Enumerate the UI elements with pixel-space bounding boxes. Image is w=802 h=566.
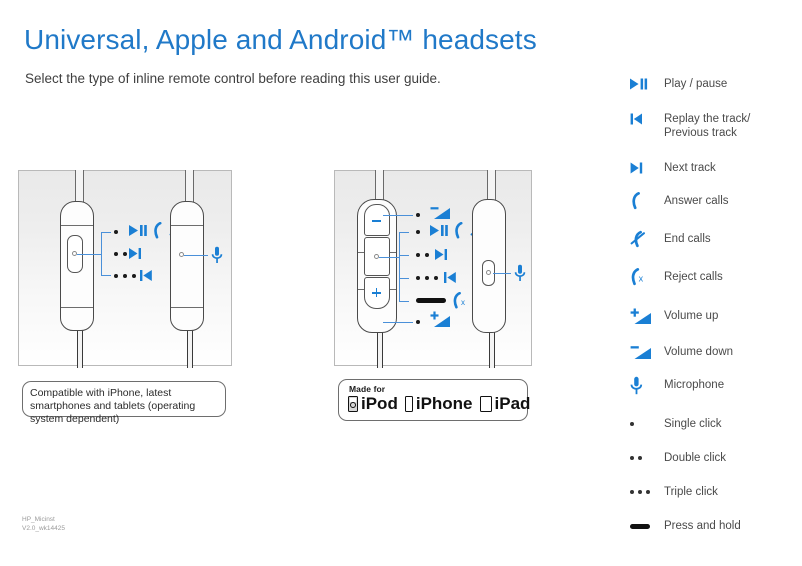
answer-calls-icon [152,222,163,243]
made-for-label: Made for [349,384,385,394]
cable-lower-left [377,330,383,368]
legend-item-volume-up: Volume up [630,308,795,324]
volume-down-icon [430,206,451,224]
user-guide-page: Universal, Apple and Android™ headsets S… [0,0,802,566]
legend-label: Volume up [664,308,718,323]
legend-label: Single click [664,416,722,431]
next-track-icon [630,160,664,176]
legend-item-single-click: Single click [630,416,795,432]
legend-label: Double click [664,450,726,465]
ipad-label: iPad [495,394,531,414]
legend-item-triple-click: Triple click [630,484,795,500]
legend-item-end-calls: End calls [630,231,795,247]
universal-panel-caption: Compatible with iPhone, latest smartphon… [22,381,226,417]
legend-item-next-track: Next track [630,160,795,176]
caption-text: Compatible with iPhone, latest smartphon… [30,387,218,426]
previous-track-icon [443,271,457,288]
leader-line-row1 [101,232,111,233]
press-and-hold-icon [630,518,664,534]
legend-label: Answer calls [664,193,729,208]
answer-calls-icon [453,222,464,243]
cable-lower-right [187,326,193,368]
legend-label: Replay the track/ Previous track [664,111,750,140]
click-dot [416,230,420,234]
capsule-seam-top [171,225,203,226]
volume-up-icon [430,311,451,332]
leader-line-center [379,257,399,258]
plus-glyph-v [376,288,378,297]
capsule-seam-bottom [171,307,203,308]
legend-label: Next track [664,160,716,175]
made-for-devices: iPod iPhone iPad [348,394,519,414]
triple-click-icon [630,484,664,500]
microphone-icon [514,264,526,286]
svg-text:x: x [461,298,465,307]
click-dot [416,320,420,324]
legend-label: Microphone [664,377,724,392]
click-dot [630,490,634,494]
legend-label: Triple click [664,484,718,499]
svg-text:x: x [639,274,644,284]
click-dot [114,252,118,256]
microphone-icon [630,377,664,393]
legend-item-reject-calls: x Reject calls [630,269,795,285]
play-pause-icon [630,76,664,92]
legend-label: Reject calls [664,269,723,284]
legend-item-previous-track: Replay the track/ Previous track [630,111,795,140]
click-dot [114,230,118,234]
legend-item-microphone: Microphone [630,377,795,393]
leader-line-row5 [399,301,409,302]
end-calls-icon [630,231,664,247]
reject-calls-icon: x [630,269,664,285]
click-dot [114,274,118,278]
legend-label: End calls [664,231,711,246]
footer-line-2: V2.0_wk14425 [22,525,65,534]
legend-item-play-pause: Play / pause [630,76,795,92]
single-click-icon [630,416,664,432]
microphone-capsule-body [170,201,204,331]
leader-line-row4 [399,278,409,279]
leader-line-row2 [399,232,409,233]
cable-lower-left [77,326,83,368]
made-for-apple-badge: Made for iPod iPhone iPad [338,379,528,421]
play-pause-icon [129,224,149,239]
leader-line-microphone [184,255,208,256]
play-pause-icon [430,224,450,241]
leader-line-row3 [101,275,111,276]
microphone-hole [486,270,491,275]
ipad-icon [480,396,492,412]
leader-bracket [101,232,102,276]
reject-calls-icon: x [452,292,469,313]
volume-down-icon [630,344,664,360]
remote-seam-bottom [61,307,93,308]
legend-item-volume-down: Volume down [630,344,795,360]
click-dot [646,490,650,494]
legend-label: Play / pause [664,76,727,91]
hold-bar [630,524,650,529]
click-dot [638,490,642,494]
click-dot [630,456,634,460]
apple-remote-panel: x [334,170,532,366]
previous-track-icon [139,269,153,286]
footer-line-1: HP_Micinst [22,516,65,525]
leader-line-volume-up [383,322,413,323]
cable-lower-right [489,330,495,368]
leader-line-row3 [399,255,409,256]
page-title: Universal, Apple and Android™ headsets [24,24,537,56]
leader-line-volume-down [383,215,413,216]
remote-seam-top [61,225,93,226]
click-dot [416,213,420,217]
next-track-icon [129,247,143,264]
click-dot [425,253,429,257]
leader-line-center [77,254,101,255]
click-dot [123,252,127,256]
legend-item-double-click: Double click [630,450,795,466]
microphone-icon [211,246,223,268]
press-and-hold-indicator [416,298,446,303]
legend-item-press-and-hold: Press and hold [630,518,795,534]
iphone-label: iPhone [416,394,473,414]
click-dot [638,456,642,460]
next-track-icon [435,248,449,265]
document-footer: HP_Micinst V2.0_wk14425 [22,516,65,533]
ipod-label: iPod [361,394,398,414]
click-dot [434,276,438,280]
click-dot [123,274,127,278]
legend-label: Press and hold [664,518,741,533]
previous-track-icon [630,111,664,127]
iphone-icon [405,396,413,412]
volume-up-icon [630,308,664,324]
leader-line-microphone [493,273,511,274]
answer-calls-icon [630,193,664,209]
ipod-icon [348,396,358,412]
click-dot [425,276,429,280]
click-dot [416,276,420,280]
double-click-icon [630,450,664,466]
click-dot [132,274,136,278]
legend-item-answer-calls: Answer calls [630,193,795,209]
leader-bracket-center [399,232,400,301]
click-dot [416,253,420,257]
click-dot [630,422,634,426]
universal-remote-panel [18,170,232,366]
page-subtitle: Select the type of inline remote control… [25,71,441,86]
legend-label: Volume down [664,344,733,359]
minus-glyph [372,220,381,222]
